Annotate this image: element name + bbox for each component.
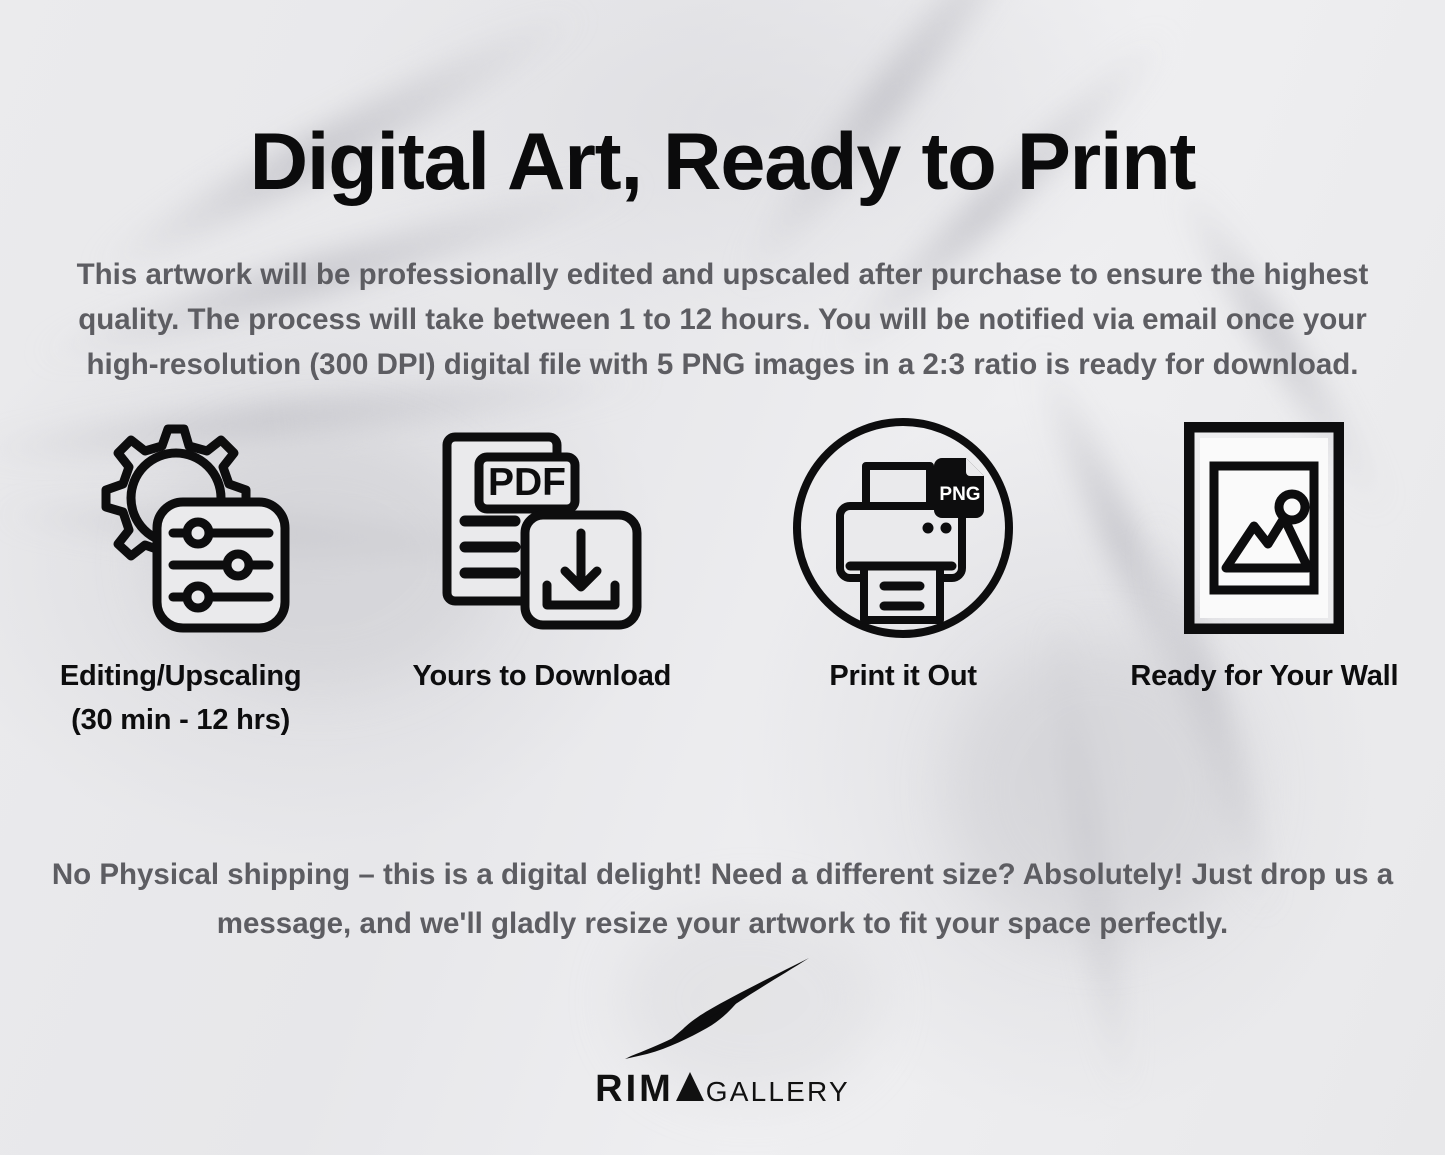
page-title: Digital Art, Ready to Print [0,120,1445,205]
framed-picture-svg [1184,422,1344,634]
feature-item-wall: Ready for Your Wall [1084,414,1445,742]
logo-wordmark: RIM GALLERY [595,1070,850,1108]
feature-label-wall: Ready for Your Wall [1130,654,1398,698]
feature-label-editing-upscaling: Editing/Upscaling (30 min - 12 hrs) [60,654,302,742]
feature-label-line1: Editing/Upscaling [60,654,302,698]
logo-name-primary: RIM [595,1070,674,1108]
gear-sliders-svg [65,420,297,636]
rima-swoosh-mark [623,952,823,1064]
png-badge-label: PNG [940,484,981,505]
intro-paragraph: This artwork will be professionally edit… [52,252,1393,387]
feature-label-download: Yours to Download [413,654,672,698]
logo-name-secondary: GALLERY [706,1078,850,1106]
feature-item-editing-upscaling: Editing/Upscaling (30 min - 12 hrs) [0,414,361,742]
feature-label-line2: (30 min - 12 hrs) [60,698,302,742]
printer-circle-svg: PNG [792,414,1014,642]
gear-sliders-icon [65,414,297,642]
pdf-download-icon: PDF [437,414,647,642]
framed-picture-icon [1184,414,1344,642]
feature-item-download: PDF Yours to Download [361,414,722,742]
printer-circle-icon: PNG [792,414,1014,642]
brand-logo: RIM GALLERY [0,952,1445,1108]
poster-canvas: Digital Art, Ready to Print This artwork… [0,0,1445,1155]
feature-label-print: Print it Out [829,654,976,698]
feature-item-print: PNG Print it Out [723,414,1084,742]
pdf-badge-label: PDF [488,461,566,504]
outro-paragraph: No Physical shipping – this is a digital… [46,850,1399,948]
logo-letter-a-triangle [676,1072,704,1101]
pdf-download-svg: PDF [437,423,647,633]
feature-row: Editing/Upscaling (30 min - 12 hrs) PDF [0,414,1445,742]
